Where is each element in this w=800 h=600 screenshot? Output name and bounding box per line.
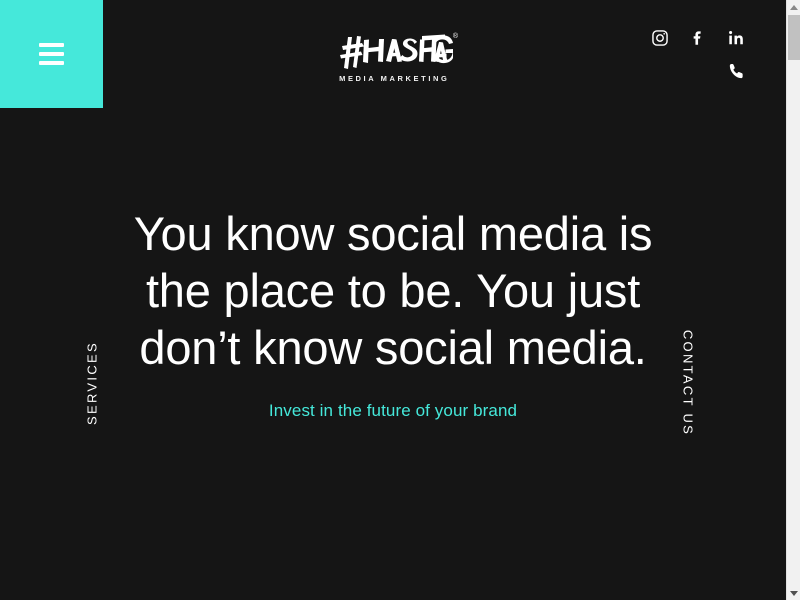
registered-trademark-icon: ® [453,33,458,40]
scroll-up-button[interactable] [787,0,800,14]
hamburger-icon [39,43,64,65]
menu-button[interactable] [0,0,103,108]
hashtag-wordmark-icon: ® [333,33,453,71]
scroll-down-button[interactable] [787,586,800,600]
linkedin-icon [727,29,745,47]
linkedin-link[interactable] [726,28,746,48]
hero-section: You know social media is the place to be… [120,205,666,423]
facebook-link[interactable] [688,28,708,48]
instagram-icon [651,29,669,47]
sidebar-item-services[interactable]: SERVICES [85,341,100,425]
hero-subtitle: Invest in the future of your brand [120,399,666,423]
scrollbar-thumb[interactable] [788,15,800,60]
facebook-icon [689,29,707,47]
page-title: You know social media is the place to be… [120,205,666,376]
scroll-down-arrow-icon [790,591,798,596]
scroll-up-arrow-icon [790,5,798,10]
sidebar-item-contact-us[interactable]: CONTACT US [681,330,696,436]
site-logo[interactable]: ® MEDIA MARKETING [293,22,493,94]
phone-link[interactable] [726,60,746,82]
browser-viewport: ® MEDIA MARKETING [0,0,800,600]
instagram-link[interactable] [650,28,670,48]
site-header: ® MEDIA MARKETING [0,0,786,110]
social-links [650,28,746,48]
page-content: ® MEDIA MARKETING [0,0,786,600]
phone-icon [727,62,746,81]
vertical-scrollbar[interactable] [786,0,800,600]
logo-tagline: MEDIA MARKETING [337,74,450,83]
